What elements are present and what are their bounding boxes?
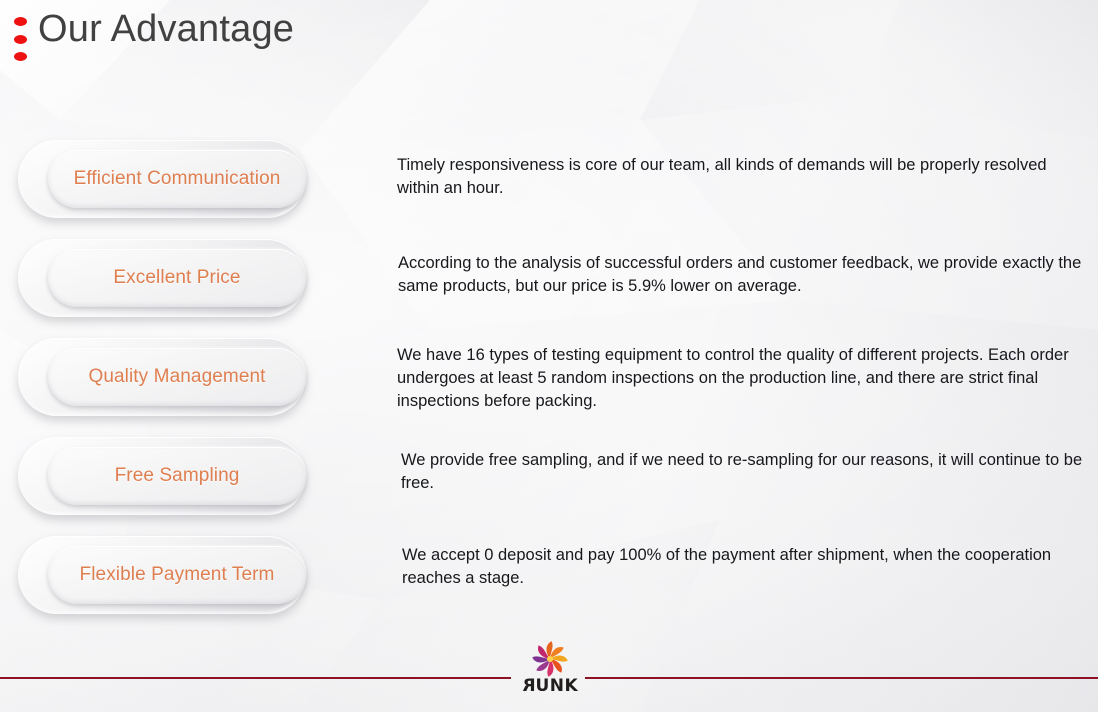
footer-divider-left — [0, 677, 511, 679]
pill-outer-ring: Flexible Payment Term — [18, 536, 306, 614]
advantage-pill[interactable]: Efficient Communication — [0, 140, 330, 220]
advantage-description: We provide free sampling, and if we need… — [401, 449, 1091, 495]
advantage-description: According to the analysis of successful … — [398, 252, 1088, 298]
advantage-description: Timely responsiveness is core of our tea… — [397, 154, 1087, 200]
pill-inner-face: Efficient Communication — [48, 150, 306, 208]
advantage-pill-label: Flexible Payment Term — [80, 564, 275, 586]
pill-outer-ring: Efficient Communication — [18, 140, 306, 218]
advantage-pill-label: Excellent Price — [113, 267, 240, 289]
title-dot-icon — [14, 35, 27, 44]
footer-divider-right — [585, 677, 1098, 679]
slide-footer: RUNK — [0, 638, 1098, 712]
advantage-pill-label: Quality Management — [88, 366, 265, 388]
title-dot-icon — [14, 17, 27, 26]
pinwheel-flower-icon — [530, 640, 570, 678]
brand-wordmark-rest: UNK — [535, 676, 578, 696]
brand-wordmark-r: R — [522, 677, 536, 696]
title-dot-icon — [14, 52, 27, 61]
title-dots-icon — [12, 17, 28, 61]
pill-inner-face: Excellent Price — [48, 249, 306, 307]
brand-wordmark: RUNK — [522, 677, 578, 696]
pill-outer-ring: Excellent Price — [18, 239, 306, 317]
pill-outer-ring: Free Sampling — [18, 437, 306, 515]
pill-outer-ring: Quality Management — [18, 338, 306, 416]
advantage-description: We have 16 types of testing equipment to… — [397, 344, 1087, 413]
advantage-description: We accept 0 deposit and pay 100% of the … — [402, 544, 1092, 590]
advantage-pill-list: Efficient Communication Excellent Price … — [0, 140, 330, 635]
brand-logo: RUNK — [508, 638, 592, 710]
advantage-pill[interactable]: Flexible Payment Term — [0, 536, 330, 616]
page-title: Our Advantage — [38, 8, 294, 51]
advantage-pill[interactable]: Excellent Price — [0, 239, 330, 319]
advantage-pill-label: Free Sampling — [115, 465, 240, 487]
advantage-pill-label: Efficient Communication — [74, 168, 281, 190]
pill-inner-face: Quality Management — [48, 348, 306, 406]
advantage-pill[interactable]: Quality Management — [0, 338, 330, 418]
pill-inner-face: Free Sampling — [48, 447, 306, 505]
slide: Our Advantage Efficient Communication Ex… — [0, 0, 1098, 712]
advantage-pill[interactable]: Free Sampling — [0, 437, 330, 517]
pill-inner-face: Flexible Payment Term — [48, 546, 306, 604]
